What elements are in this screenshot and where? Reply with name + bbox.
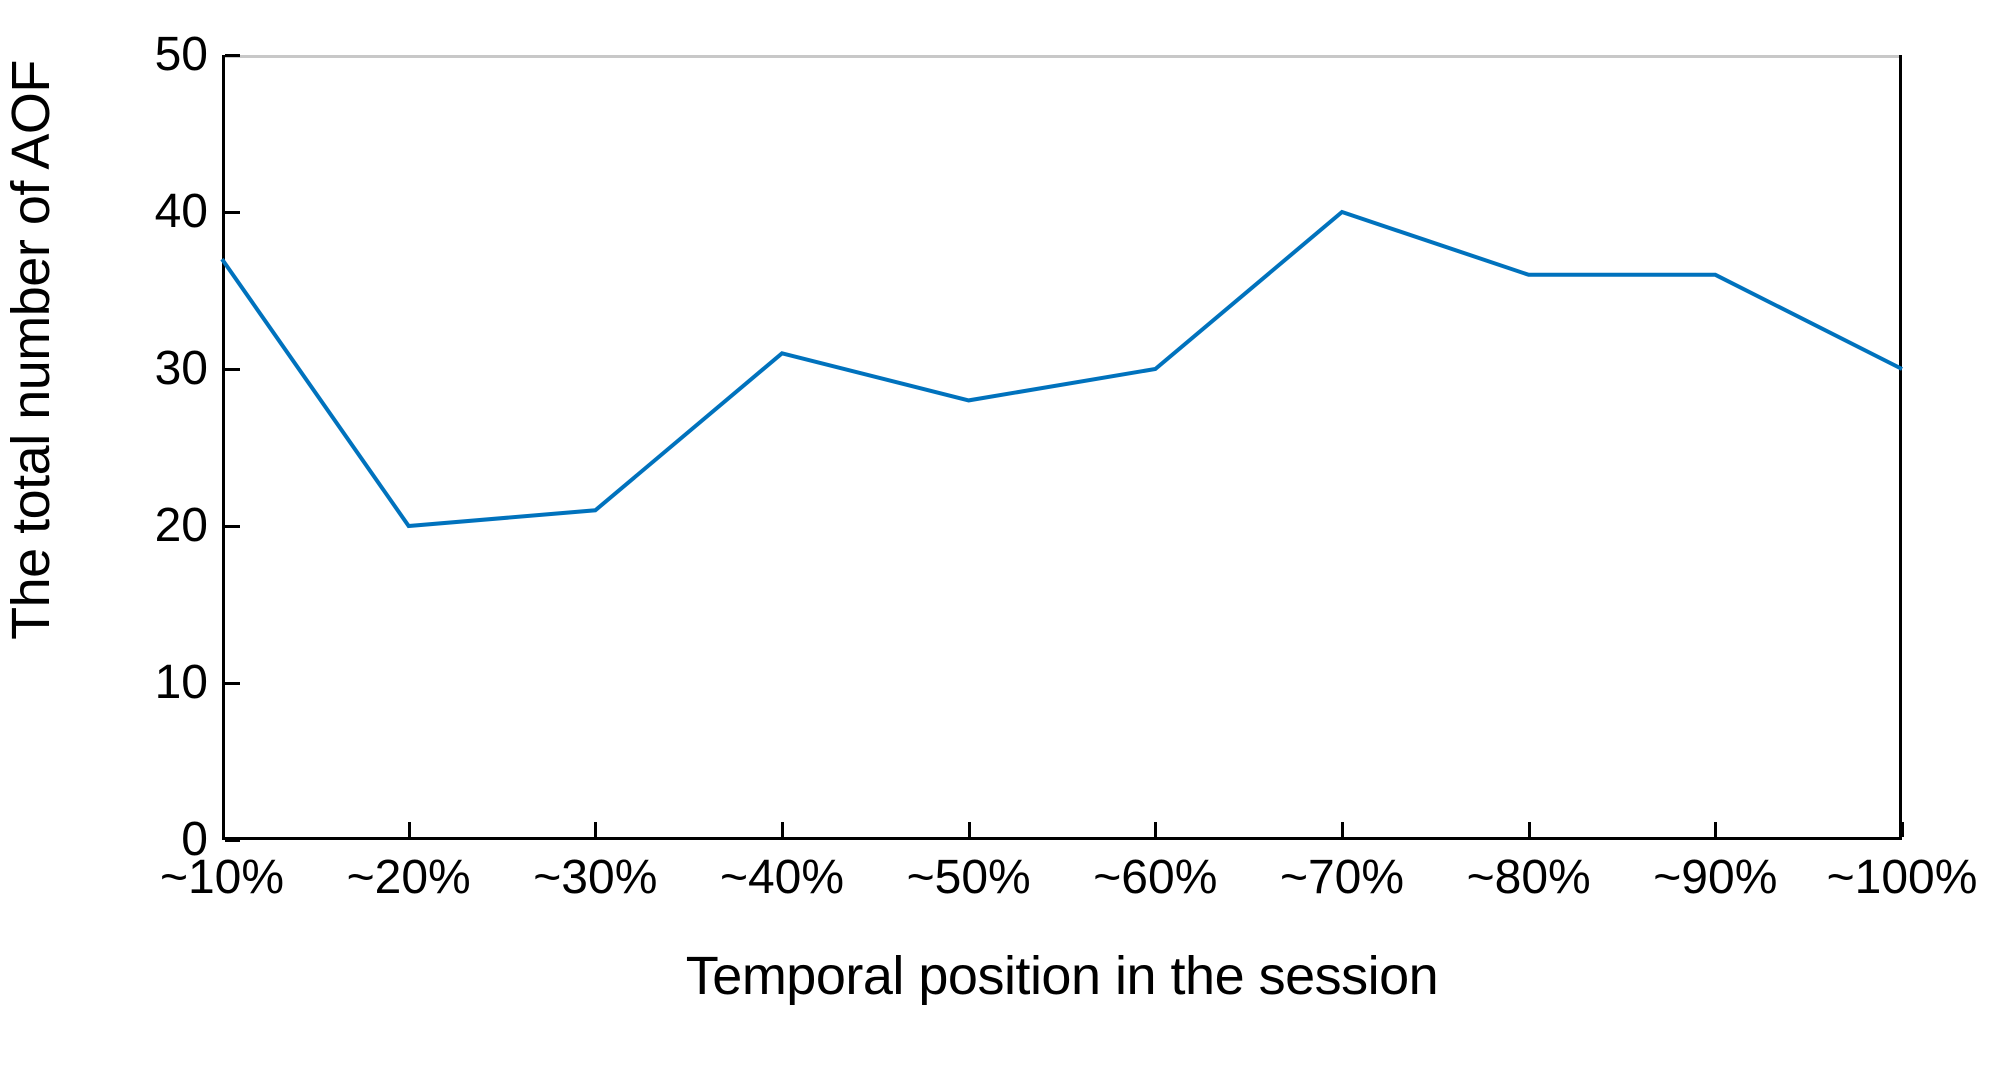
x-tick-label: ~100% xyxy=(1827,854,1978,902)
y-tick-label: 30 xyxy=(155,345,208,393)
x-tick-label: ~20% xyxy=(347,854,471,902)
x-tick-label: ~60% xyxy=(1093,854,1217,902)
line-series-aof xyxy=(222,212,1902,526)
x-tick-label: ~80% xyxy=(1467,854,1591,902)
x-tick-label: ~50% xyxy=(907,854,1031,902)
y-tick-label: 50 xyxy=(155,31,208,79)
x-tick-label: ~90% xyxy=(1653,854,1777,902)
plot-area: 01020304050 ~10%~20%~30%~40%~50%~60%~70%… xyxy=(222,55,1902,840)
y-axis-title-text: The total number of AOF xyxy=(0,60,62,640)
figure-canvas: The total number of AOF 01020304050 ~10%… xyxy=(0,0,1993,1069)
y-tick-label: 10 xyxy=(155,659,208,707)
y-tick-label: 40 xyxy=(155,188,208,236)
x-axis-title: Temporal position in the session xyxy=(222,945,1902,1007)
x-axis-title-text: Temporal position in the session xyxy=(686,946,1438,1006)
y-axis-title: The total number of AOF xyxy=(0,0,62,700)
x-tick-label: ~40% xyxy=(720,854,844,902)
y-tick-label: 20 xyxy=(155,502,208,550)
line-series-svg xyxy=(222,55,1902,840)
x-tick-label: ~10% xyxy=(160,854,284,902)
x-tick-label: ~70% xyxy=(1280,854,1404,902)
x-tick-label: ~30% xyxy=(533,854,657,902)
